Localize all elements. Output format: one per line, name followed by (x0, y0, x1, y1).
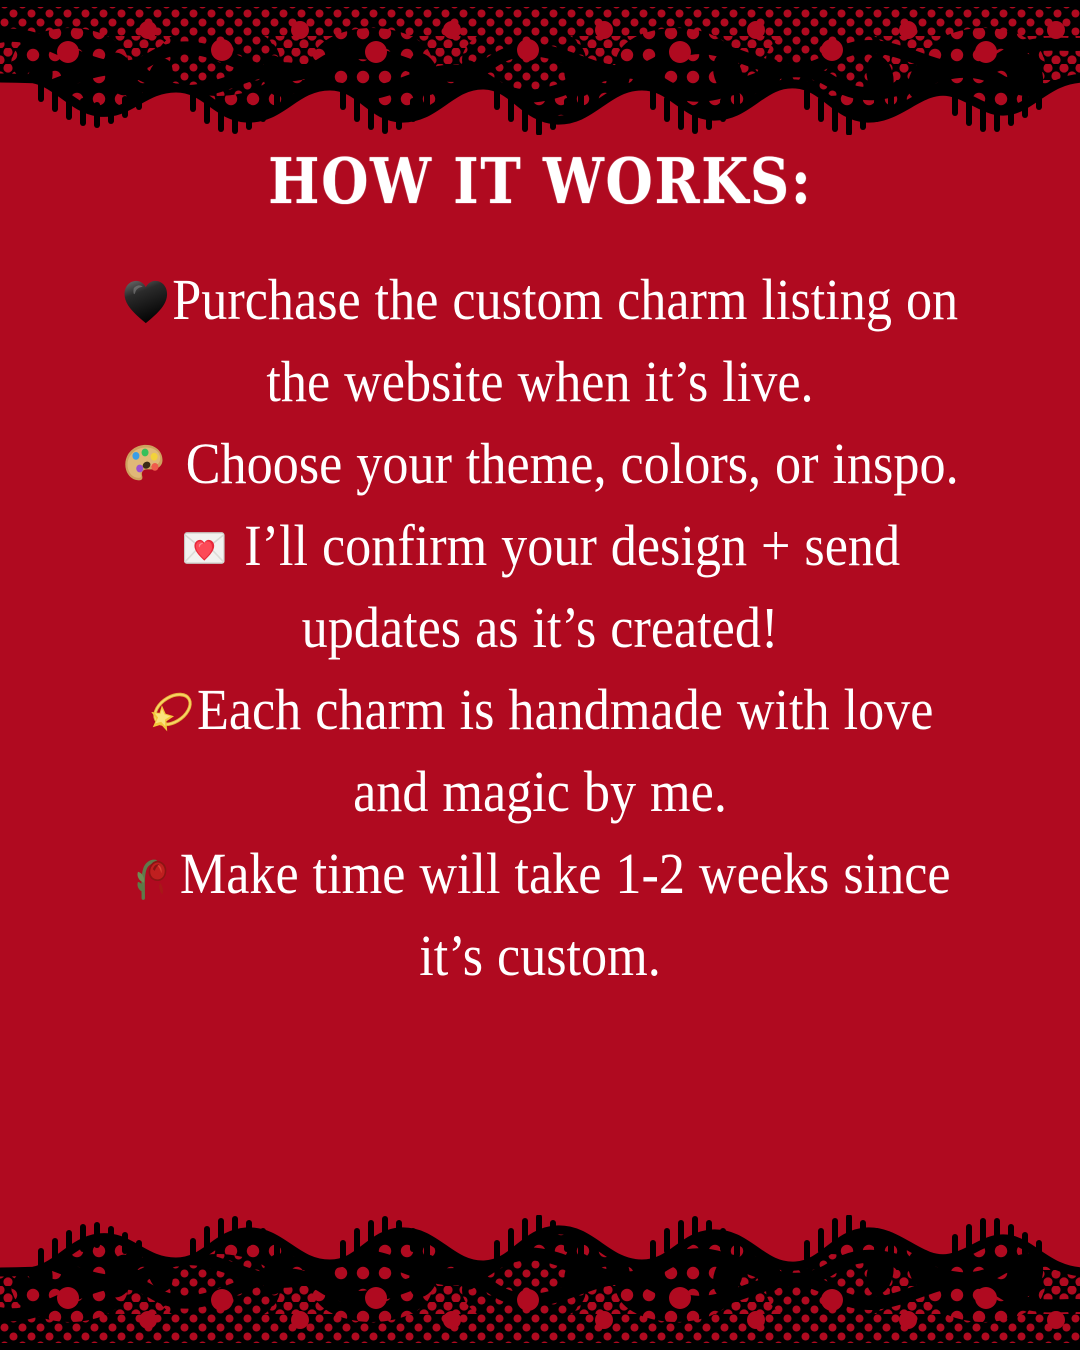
list-item: Make time will take 1-2 weeks since it’s… (108, 833, 972, 997)
list-item: Each charm is handmade with love and mag… (108, 669, 972, 833)
list-item-text: Choose your theme, colors, or inspo. (172, 431, 959, 496)
poster-content: HOW IT WORKS: (0, 0, 1080, 1350)
list-item-text: Make time will take 1-2 weeks since it’s… (180, 841, 951, 988)
list-item: I’ll confirm your design + send updates … (108, 505, 972, 669)
poster-canvas: HOW IT WORKS: (0, 0, 1080, 1350)
artist-palette-icon (121, 439, 170, 493)
bottom-edge-trim (0, 1343, 1080, 1350)
top-edge-trim (0, 0, 1080, 7)
love-letter-icon (180, 521, 229, 575)
wilted-flower-icon (129, 849, 178, 903)
list-item: Choose your theme, colors, or inspo. (108, 423, 972, 505)
list-item: Purchase the custom charm listing on the… (108, 259, 972, 423)
page-title: HOW IT WORKS: (268, 150, 812, 213)
dizzy-star-icon (147, 685, 196, 739)
list-item-text: Each charm is handmade with love and mag… (197, 677, 934, 824)
list-item-text: I’ll confirm your design + send updates … (230, 513, 900, 660)
black-heart-icon (122, 275, 171, 329)
steps-list: Purchase the custom charm listing on the… (60, 259, 1020, 997)
list-item-text: Purchase the custom charm listing on the… (172, 267, 958, 414)
